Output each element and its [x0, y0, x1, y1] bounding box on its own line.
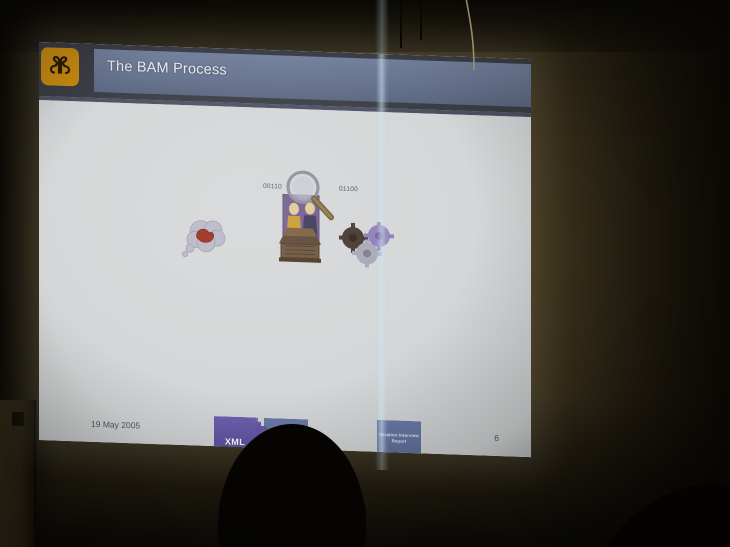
omega-snake-logo-icon [41, 47, 79, 86]
thought-bubble-icon [181, 215, 233, 261]
slide-body: 00110 01100 [39, 100, 531, 457]
ceiling-cable-left [400, 0, 402, 48]
projection-screen: The BAM Process [39, 42, 531, 457]
door-latch [12, 412, 24, 426]
ceiling-cable-right [420, 0, 422, 40]
gears-cogs-icon [339, 220, 395, 268]
audience-head-ear [348, 498, 366, 524]
slide-title-bar [94, 49, 531, 107]
footer-page-number: 6 [494, 433, 499, 443]
projected-slide-photo: The BAM Process [0, 0, 730, 547]
desk-workstation-icon [277, 221, 325, 265]
presentation-slide: The BAM Process [39, 42, 531, 457]
screen-seam [377, 54, 386, 452]
